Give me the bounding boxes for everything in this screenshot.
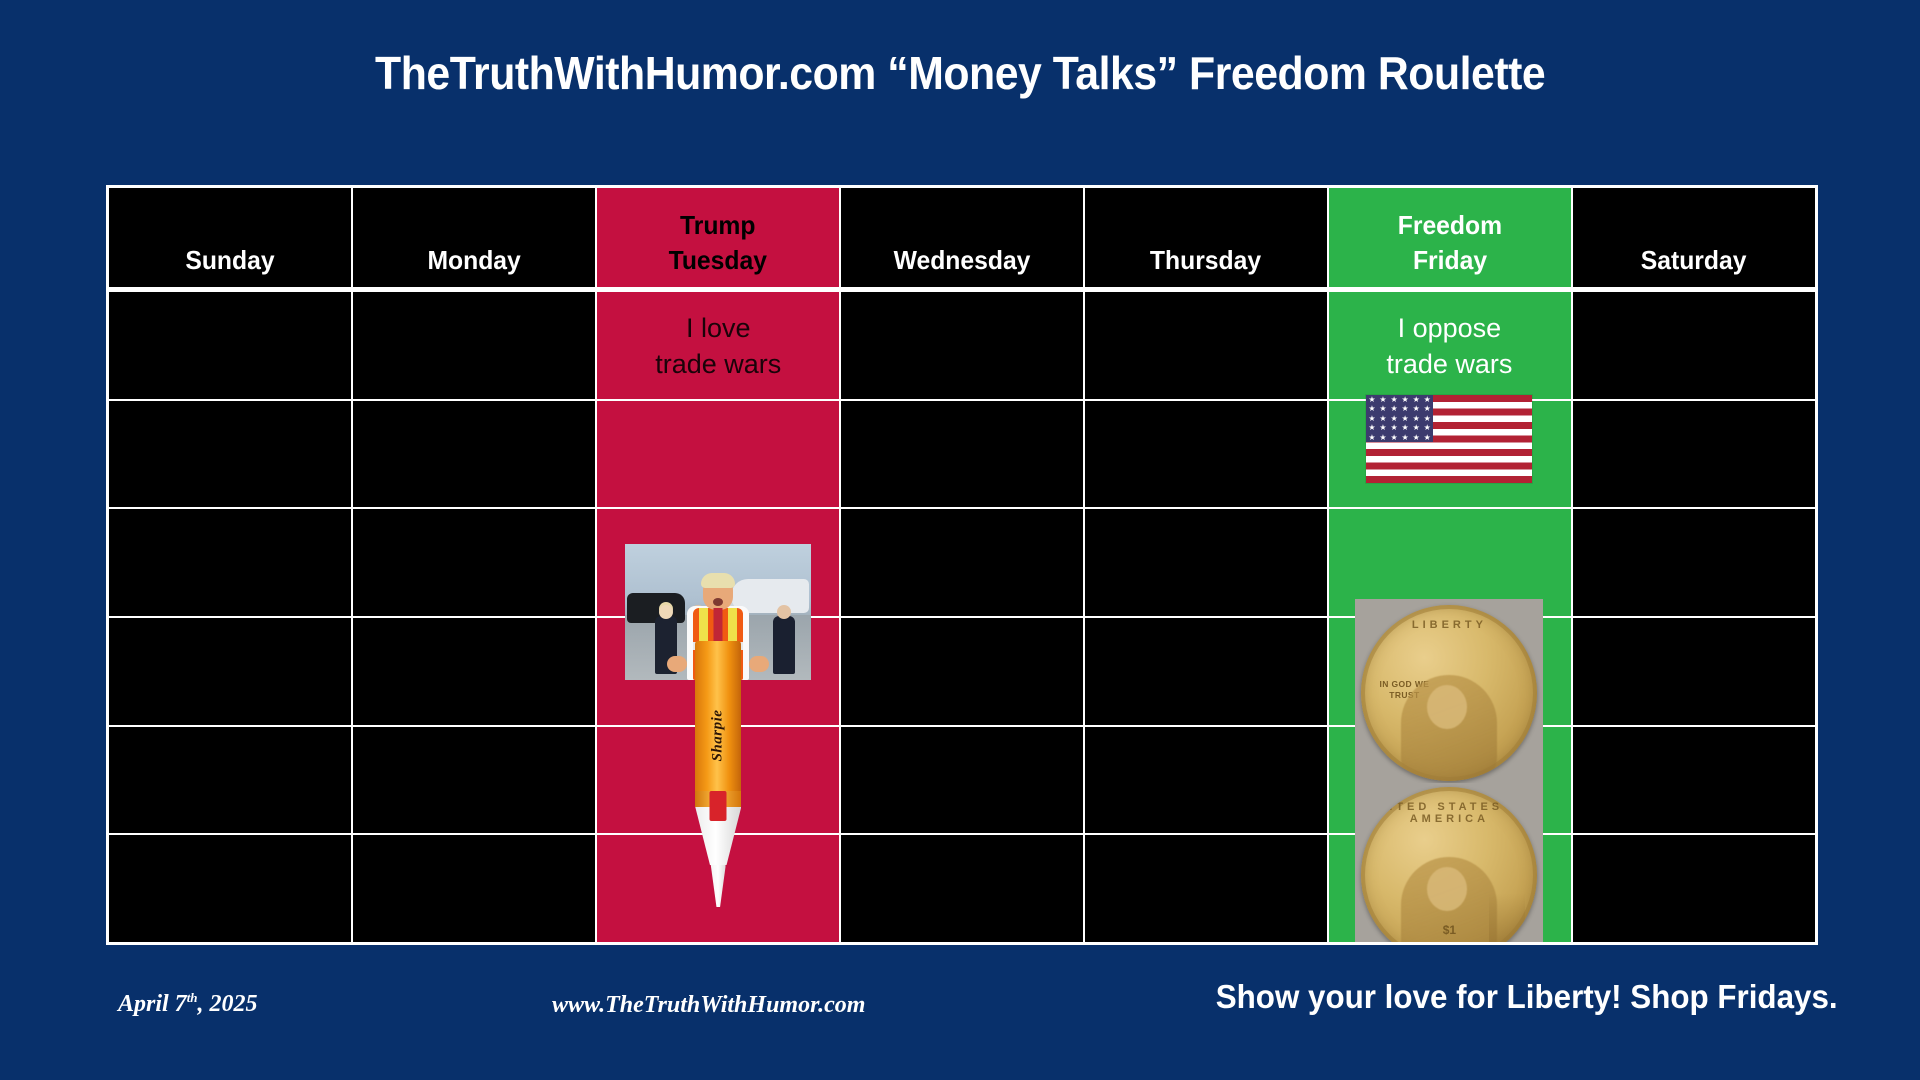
day-cell-tuesday[interactable]	[597, 401, 841, 508]
day-header-label-line1: Trump	[680, 208, 755, 242]
day-cell-saturday[interactable]	[1573, 727, 1815, 834]
week-row	[109, 401, 1815, 510]
day-cell-saturday[interactable]	[1573, 618, 1815, 725]
page-title: TheTruthWithHumor.com “Money Talks” Free…	[0, 46, 1920, 100]
footer-date-ordinal: th	[187, 990, 198, 1005]
day-header-saturday[interactable]: Saturday	[1573, 188, 1815, 287]
week-row	[109, 618, 1815, 727]
day-cell-thursday[interactable]	[1085, 509, 1329, 616]
day-header-freedom-friday[interactable]: Freedom Friday	[1329, 188, 1573, 287]
day-header-label: Sunday	[185, 243, 274, 277]
footer-website-url[interactable]: www.TheTruthWithHumor.com	[552, 992, 865, 1019]
day-cell-tuesday[interactable]	[597, 509, 841, 616]
day-header-label-line2: Friday	[1413, 243, 1487, 277]
day-cell-tuesday[interactable]	[597, 618, 841, 725]
day-cell-friday[interactable]	[1329, 509, 1573, 616]
day-header-wednesday[interactable]: Wednesday	[841, 188, 1085, 287]
day-header-label-line2: Tuesday	[669, 243, 767, 277]
footer-date: April 7th, 2025	[118, 990, 258, 1018]
day-cell-monday[interactable]	[353, 401, 597, 508]
day-cell-thursday[interactable]	[1085, 401, 1329, 508]
calendar-header-row: Sunday Monday Trump Tuesday Wednesday Th…	[109, 188, 1815, 292]
day-cell-friday[interactable]	[1329, 835, 1573, 942]
footer-call-to-action: Show your love for Liberty! Shop Fridays…	[1216, 978, 1838, 1016]
day-cell-wednesday[interactable]	[841, 292, 1085, 399]
day-cell-monday[interactable]	[353, 618, 597, 725]
day-cell-wednesday[interactable]	[841, 509, 1085, 616]
week-row	[109, 509, 1815, 618]
day-cell-tuesday[interactable]	[597, 835, 841, 942]
footer-date-year: , 2025	[198, 991, 258, 1017]
day-header-sunday[interactable]: Sunday	[109, 188, 353, 287]
day-cell-monday[interactable]	[353, 292, 597, 399]
week-row	[109, 292, 1815, 401]
day-cell-friday[interactable]	[1329, 727, 1573, 834]
day-header-thursday[interactable]: Thursday	[1085, 188, 1329, 287]
day-cell-thursday[interactable]	[1085, 835, 1329, 942]
week-row	[109, 727, 1815, 836]
day-cell-friday[interactable]	[1329, 401, 1573, 508]
day-cell-sunday[interactable]	[109, 618, 353, 725]
day-cell-saturday[interactable]	[1573, 401, 1815, 508]
day-cell-wednesday[interactable]	[841, 618, 1085, 725]
day-cell-sunday[interactable]	[109, 727, 353, 834]
day-cell-friday[interactable]	[1329, 292, 1573, 399]
day-header-label: Thursday	[1150, 243, 1261, 277]
calendar-grid: Sunday Monday Trump Tuesday Wednesday Th…	[106, 185, 1818, 945]
day-cell-saturday[interactable]	[1573, 835, 1815, 942]
day-cell-monday[interactable]	[353, 835, 597, 942]
day-header-label: Saturday	[1641, 243, 1747, 277]
day-header-trump-tuesday[interactable]: Trump Tuesday	[597, 188, 841, 287]
day-cell-thursday[interactable]	[1085, 727, 1329, 834]
day-cell-sunday[interactable]	[109, 835, 353, 942]
day-cell-wednesday[interactable]	[841, 835, 1085, 942]
day-cell-saturday[interactable]	[1573, 292, 1815, 399]
day-header-label-line1: Freedom	[1398, 208, 1502, 242]
day-cell-sunday[interactable]	[109, 401, 353, 508]
day-cell-tuesday[interactable]	[597, 727, 841, 834]
day-cell-wednesday[interactable]	[841, 401, 1085, 508]
day-cell-saturday[interactable]	[1573, 509, 1815, 616]
day-header-label: Wednesday	[894, 243, 1031, 277]
day-cell-monday[interactable]	[353, 727, 597, 834]
day-cell-monday[interactable]	[353, 509, 597, 616]
day-cell-tuesday[interactable]	[597, 292, 841, 399]
calendar-week-rows	[109, 292, 1815, 942]
week-row	[109, 835, 1815, 942]
footer: April 7th, 2025 www.TheTruthWithHumor.co…	[0, 972, 1920, 1052]
page-background: TheTruthWithHumor.com “Money Talks” Free…	[0, 0, 1920, 1080]
footer-date-main: April 7	[118, 991, 187, 1017]
day-cell-thursday[interactable]	[1085, 618, 1329, 725]
day-cell-thursday[interactable]	[1085, 292, 1329, 399]
day-cell-sunday[interactable]	[109, 292, 353, 399]
day-cell-wednesday[interactable]	[841, 727, 1085, 834]
day-cell-sunday[interactable]	[109, 509, 353, 616]
day-cell-friday[interactable]	[1329, 618, 1573, 725]
day-header-label: Monday	[427, 243, 520, 277]
page-title-text: TheTruthWithHumor.com “Money Talks” Free…	[375, 46, 1545, 100]
day-header-monday[interactable]: Monday	[353, 188, 597, 287]
